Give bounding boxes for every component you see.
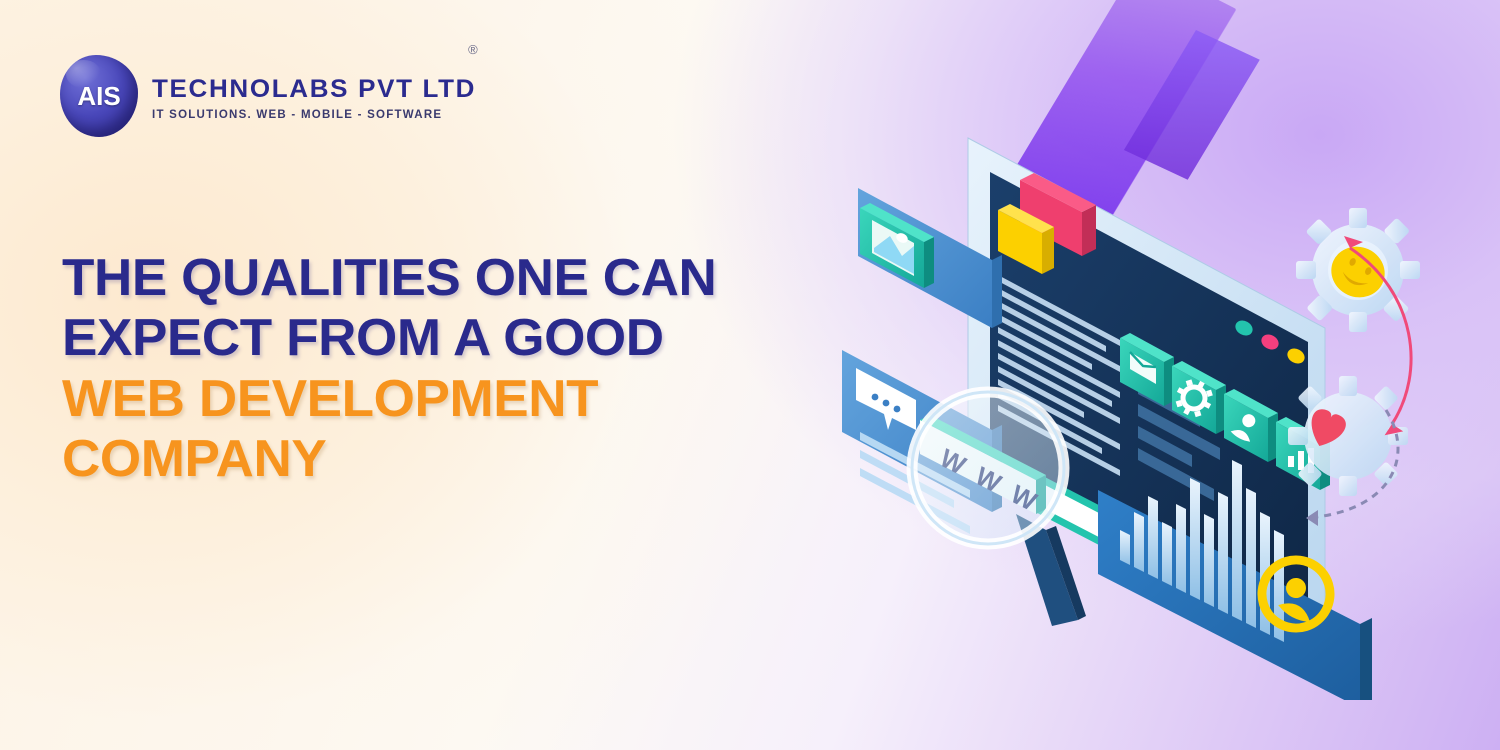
- page-title: THE QUALITIES ONE CAN EXPECT FROM A GOOD…: [62, 248, 782, 489]
- logo-company-name: TECHNOLABS PVT LTD: [152, 75, 476, 104]
- company-logo[interactable]: AIS TECHNOLABS PVT LTD ® IT SOLUTIONS. W…: [60, 55, 464, 137]
- headline-line-4: COMPANY: [62, 429, 796, 489]
- logo-wordmark: TECHNOLABS PVT LTD ® IT SOLUTIONS. WEB -…: [152, 71, 464, 121]
- logo-mark-text: AIS: [77, 81, 120, 112]
- blog-banner: AIS TECHNOLABS PVT LTD ® IT SOLUTIONS. W…: [0, 0, 1500, 750]
- logo-tagline: IT SOLUTIONS. WEB - MOBILE - SOFTWARE: [152, 109, 464, 121]
- registered-trademark-icon: ®: [468, 43, 478, 56]
- headline-line-1: THE QUALITIES ONE CAN: [62, 248, 796, 308]
- logo-mark: AIS: [60, 55, 138, 137]
- hero-illustration: W W W: [820, 60, 1460, 700]
- headline-line-3: WEB DEVELOPMENT: [62, 369, 796, 429]
- headline-line-2: EXPECT FROM A GOOD: [62, 308, 796, 368]
